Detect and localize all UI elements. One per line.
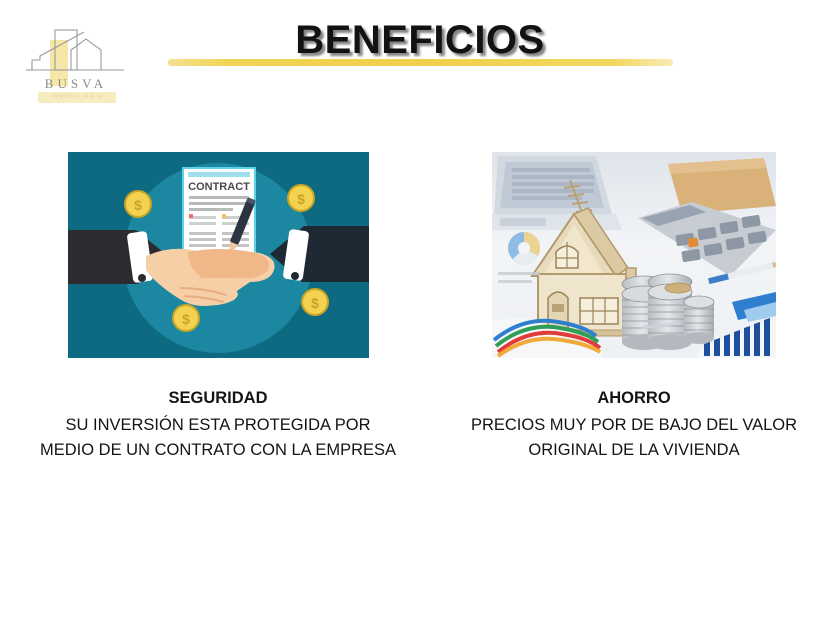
busva-logo: BUSVA INMOBILIARIA — [24, 26, 128, 104]
house-model-coins-photo — [492, 152, 776, 358]
benefit-heading-seguridad: SEGURIDAD — [38, 386, 398, 411]
handshake-contract-illustration: CONTRACT — [68, 152, 369, 358]
svg-text:$: $ — [297, 191, 305, 207]
benefit-body-seguridad: SU INVERSIÓN ESTA PROTEGIDA POR MEDIO DE… — [38, 413, 398, 463]
svg-text:$: $ — [134, 197, 142, 213]
logo-tagline: INMOBILIARIA — [38, 92, 116, 103]
house-model-coins-graphic — [492, 152, 776, 358]
svg-text:$: $ — [311, 295, 319, 311]
benefit-body-ahorro: PRECIOS MUY POR DE BAJO DEL VALOR ORIGIN… — [464, 413, 804, 463]
handshake-contract-graphic: CONTRACT — [68, 152, 369, 358]
benefit-heading-ahorro: AHORRO — [464, 386, 804, 411]
title-underline-rule — [168, 59, 673, 66]
logo-wordmark: BUSVA — [24, 76, 128, 92]
svg-text:$: $ — [182, 311, 190, 327]
benefit-card-ahorro: AHORRO PRECIOS MUY POR DE BAJO DEL VALOR… — [492, 152, 776, 463]
building-outline-icon — [24, 26, 128, 78]
page-title: BENEFICIOS — [170, 18, 670, 63]
benefit-caption-ahorro: AHORRO PRECIOS MUY POR DE BAJO DEL VALOR… — [464, 386, 804, 463]
benefit-card-seguridad: CONTRACT — [68, 152, 369, 463]
benefit-caption-seguridad: SEGURIDAD SU INVERSIÓN ESTA PROTEGIDA PO… — [38, 386, 398, 463]
svg-text:CONTRACT: CONTRACT — [188, 181, 250, 193]
